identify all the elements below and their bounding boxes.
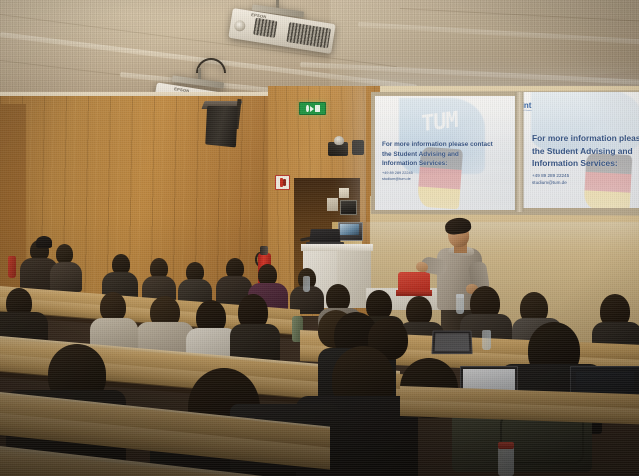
water-bottle [303,276,310,292]
audience-head [56,244,73,264]
water-bottle [8,256,16,278]
exit-sign-figure-icon [306,105,309,112]
projector-lens [233,20,246,33]
tum-int-logo: TUM int TUM International Center [523,100,531,110]
red-chair-seat [396,290,432,296]
projection-screen-left: TUM For more information please contact … [375,96,515,210]
slide-line-2: the Student Advising and [532,145,639,158]
audience-cap-icon [36,236,52,248]
slide-line-1: For more information please contact [382,140,510,150]
camera-lens-icon [334,136,344,145]
tum-logo-suffix: int [523,101,531,110]
lectern-top-surface [301,244,373,251]
audience-body [50,262,82,292]
slide-phone: +49 89 289 22245 [532,173,639,180]
fire-extinguisher-valve [260,246,268,255]
bottle-cap [498,442,514,449]
wall-touch-panel[interactable] [340,200,357,215]
fire-extinguisher-sign-icon [275,175,290,190]
slide-line-1: For more information pleas [532,132,639,145]
screen-divider [515,92,524,212]
slide-email: studium@tum.de [382,177,510,183]
tum-logo-subtitle: TUM International Center [523,110,532,112]
projector-vent [253,18,277,38]
slide-text-right: For more information pleas the Student A… [532,132,639,187]
exit-sign-door-icon [315,105,320,112]
wall-control-panel[interactable] [339,188,349,198]
laptop-screen [435,333,470,351]
wall-control-panel[interactable] [327,198,338,211]
projector-body: EPSON [228,8,335,54]
slide-line-3: Information Services: [382,159,510,169]
lecture-hall-photo: EPSON EPSON [0,0,639,476]
exit-sign [299,102,326,115]
slide-email: studium@tum.de [532,180,639,187]
exit-sign-arrow-icon [310,106,314,112]
water-bottle [482,330,491,350]
water-bottle [498,446,514,476]
student-laptop[interactable] [431,331,472,355]
slide-line-3: Information Services: [532,157,639,170]
slide-line-2: the Student Advising and [382,150,510,160]
wall-speaker-secondary [352,140,364,155]
bottle-cap [456,294,464,298]
projector-brand-label: EPSON [251,12,267,19]
projector-right: EPSON [218,0,338,58]
projector-vent [286,22,331,48]
wall-speaker [205,106,238,148]
projection-screen-right: TUM int TUM International Center For mor… [523,92,639,208]
slide-text-left: For more information please contact the … [382,140,510,182]
water-bottle [456,296,464,314]
lectern-monitor-screen [340,224,359,235]
